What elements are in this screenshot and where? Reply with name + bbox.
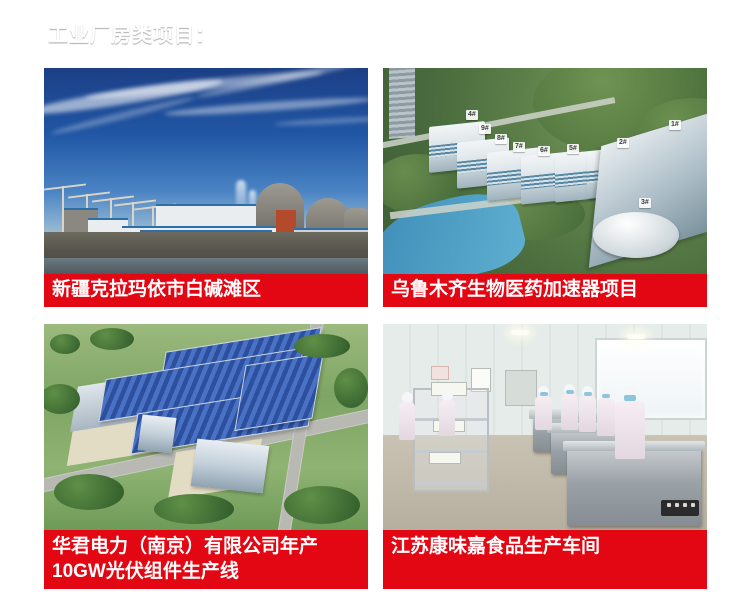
project-grid-row: 华君电力（南京）有限公司年产 10GW光伏组件生产线 <box>44 324 721 589</box>
machine-control-panel <box>661 500 699 516</box>
tree <box>154 494 234 524</box>
project-grid-row: 新疆克拉玛依市白碱滩区 4# <box>44 68 721 307</box>
office-building <box>137 414 176 453</box>
solar-roof <box>234 353 323 431</box>
project-card-huajun-power-nanjing[interactable]: 华君电力（南京）有限公司年产 10GW光伏组件生产线 <box>44 324 368 589</box>
building-tag-1: 1# <box>669 120 681 130</box>
tree <box>90 328 134 350</box>
project-caption: 华君电力（南京）有限公司年产 10GW光伏组件生产线 <box>44 530 368 589</box>
building-tag-2: 2# <box>617 138 629 148</box>
project-card-urumqi-biopharma-accelerator[interactable]: 4# 9# 8# 7# 6# 5# 2# 1# 3# 乌鲁木齐生物医药加速器项目 <box>383 68 707 307</box>
page-title: 工业厂房类项目： <box>48 19 216 48</box>
section-header-bar: 工业厂房类项目： <box>38 17 442 49</box>
building-tag-4: 4# <box>466 110 478 120</box>
project-image-industrial-plant <box>44 68 368 274</box>
project-caption: 江苏康味嘉食品生产车间 <box>383 530 707 589</box>
worker <box>399 392 415 440</box>
project-caption-line: 江苏康味嘉食品生产车间 <box>391 534 699 559</box>
project-caption-line: 新疆克拉玛依市白碱滩区 <box>52 277 360 302</box>
building-tag-7: 7# <box>513 142 525 152</box>
worker <box>535 386 552 430</box>
product-tray <box>429 452 461 464</box>
project-caption-line: 乌鲁木齐生物医药加速器项目 <box>391 277 699 302</box>
tree <box>54 474 124 510</box>
tree <box>294 334 350 358</box>
wall-sign <box>431 366 449 380</box>
cloud-shape <box>274 115 368 127</box>
office-building <box>191 439 270 494</box>
high-rise-tower <box>389 68 415 139</box>
ceiling-lamp <box>627 334 645 339</box>
electrical-panel <box>505 370 537 406</box>
tree <box>50 334 80 354</box>
worker <box>439 390 455 436</box>
building-tag-8: 8# <box>495 134 507 144</box>
plant-building <box>156 204 256 228</box>
building-tag-5: 5# <box>567 144 579 154</box>
dome-pavilion <box>593 212 679 258</box>
project-caption-line: 10GW光伏组件生产线 <box>52 559 360 584</box>
project-card-jiangsu-kangweijia-food[interactable]: 江苏康味嘉食品生产车间 <box>383 324 707 589</box>
tree <box>334 368 368 408</box>
worker <box>579 386 596 432</box>
building-tag-3: 3# <box>639 198 651 208</box>
project-caption: 新疆克拉玛依市白碱滩区 <box>44 274 368 307</box>
ceiling-lamp <box>511 330 529 335</box>
project-image-food-workshop <box>383 324 707 530</box>
building-tag-6: 6# <box>538 146 550 156</box>
building-tag-9: 9# <box>479 124 491 134</box>
project-grid: 新疆克拉玛依市白碱滩区 4# <box>44 68 721 589</box>
water-strip <box>44 258 368 274</box>
project-caption-line: 华君电力（南京）有限公司年产 <box>52 534 360 559</box>
project-image-solar-factory <box>44 324 368 530</box>
project-caption: 乌鲁木齐生物医药加速器项目 <box>383 274 707 307</box>
worker <box>615 386 645 454</box>
tree <box>284 486 360 524</box>
worker <box>597 388 615 436</box>
project-card-xinjiang-karamay[interactable]: 新疆克拉玛依市白碱滩区 <box>44 68 368 307</box>
project-image-aerial-campus: 4# 9# 8# 7# 6# 5# 2# 1# 3# <box>383 68 707 274</box>
worker <box>561 384 578 430</box>
